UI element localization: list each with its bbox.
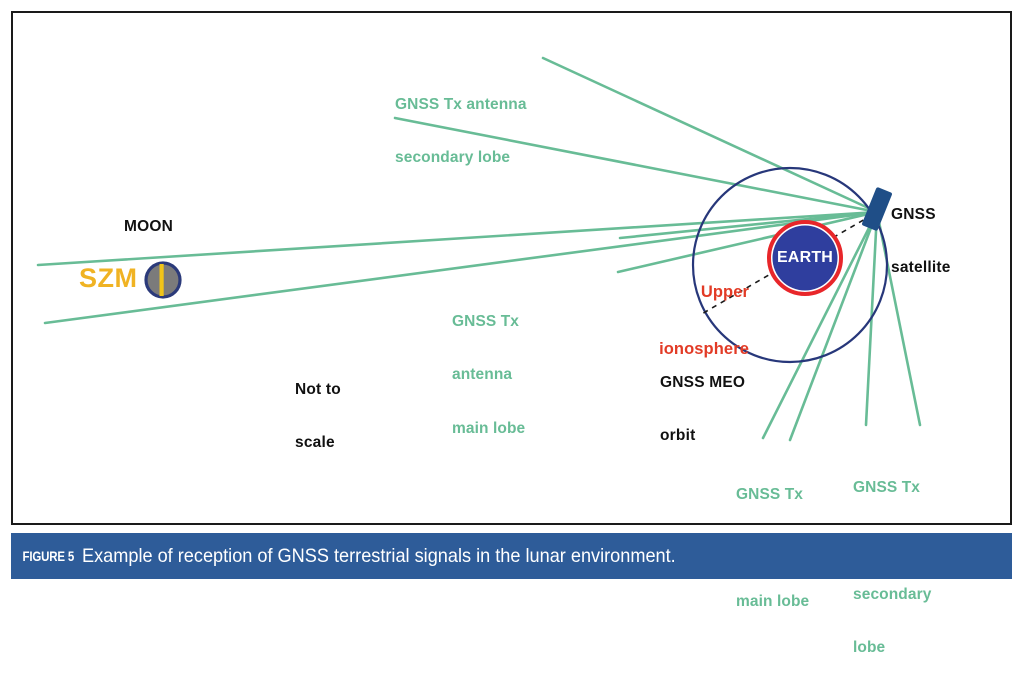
figure-number-tag: FIGURE 5 <box>11 548 74 564</box>
label-line: GNSS Tx antenna <box>395 96 527 114</box>
label-moon: MOON <box>124 218 173 236</box>
label-szm: SZM <box>79 263 138 294</box>
label-line: secondary lobe <box>395 149 527 167</box>
label-top-secondary-lobe: GNSS Tx antenna secondary lobe <box>395 60 527 203</box>
label-line: orbit <box>660 427 745 445</box>
label-not-to-scale: Not to scale <box>295 345 341 488</box>
figure-caption-bar: FIGURE 5 Example of reception of GNSS te… <box>11 533 1012 579</box>
label-line: Not to <box>295 381 341 399</box>
label-line: antenna <box>452 366 525 384</box>
label-line: Upper <box>653 283 749 302</box>
label-gnss-meo-orbit: GNSS MEO orbit <box>660 338 745 481</box>
label-line: GNSS Tx <box>452 313 525 331</box>
beam-secondary-upper-1 <box>543 58 877 212</box>
label-line: scale <box>295 434 341 452</box>
label-earth: EARTH <box>773 249 837 267</box>
figure-caption-text: Example of reception of GNSS terrestrial… <box>82 545 676 568</box>
moon-icon <box>146 263 180 297</box>
label-mid-main-lobe: GNSS Tx antenna main lobe <box>452 277 525 473</box>
label-line: satellite <box>891 259 951 277</box>
label-line: GNSS Tx <box>853 479 931 497</box>
label-line: lobe <box>853 639 931 657</box>
label-line: main lobe <box>736 593 809 611</box>
label-line: main lobe <box>452 420 525 438</box>
label-gnss-satellite: GNSS satellite <box>891 170 951 313</box>
label-line: GNSS Tx <box>736 486 809 504</box>
label-line: GNSS MEO <box>660 374 745 392</box>
label-line: GNSS <box>891 206 951 224</box>
figure-container: GNSS Tx antenna secondary lobe GNSS Tx a… <box>0 0 1024 611</box>
label-line: secondary <box>853 586 931 604</box>
